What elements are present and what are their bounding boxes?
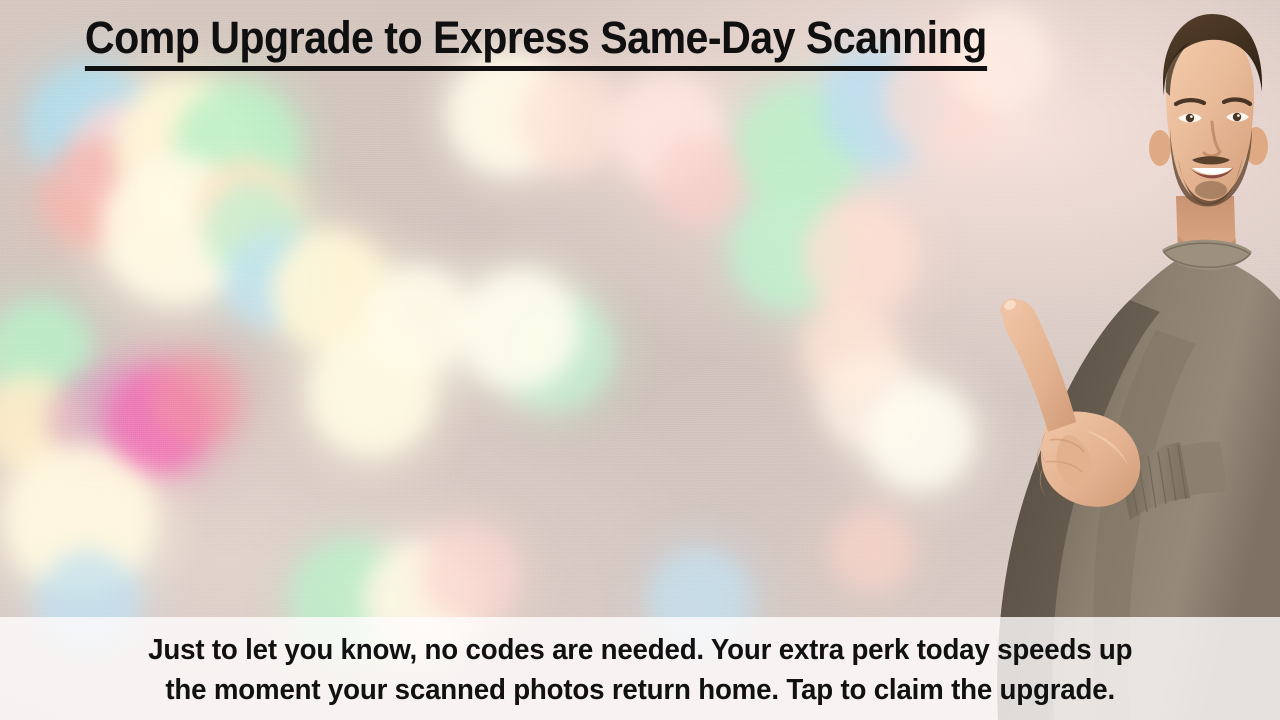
bokeh-circle [804, 200, 916, 312]
bokeh-circle [462, 272, 578, 388]
bokeh-circle [152, 356, 240, 444]
headline: Comp Upgrade to Express Same-Day Scannin… [0, 13, 1072, 71]
bokeh-circle [366, 268, 470, 372]
caption: Just to let you know, no codes are neede… [0, 617, 1280, 720]
bokeh-circle [422, 527, 518, 623]
promo-banner: Comp Upgrade to Express Same-Day Scannin… [0, 0, 1280, 720]
caption-line-1: Just to let you know, no codes are neede… [148, 630, 1132, 670]
bokeh-circle [868, 384, 972, 488]
bokeh-circle [518, 70, 618, 170]
bokeh-circle [832, 510, 912, 590]
headline-text: Comp Upgrade to Express Same-Day Scannin… [85, 13, 987, 71]
bokeh-lights-layer [0, 0, 1280, 720]
caption-line-2: the moment your scanned photos return ho… [165, 670, 1115, 710]
bokeh-circle [656, 136, 744, 224]
